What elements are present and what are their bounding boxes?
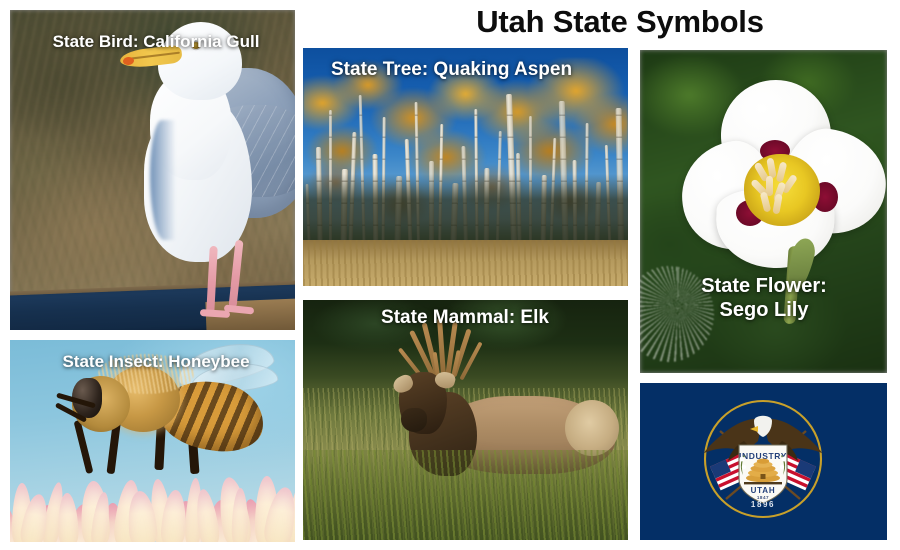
caption-state-flower: State Flower: Sego Lily [654,274,874,323]
poster-canvas: Utah State Symbols State Bird: Californi… [0,0,900,550]
gull-neck-shadow [150,120,176,240]
seal-shield: INDUSTRY UTAH 1847 [739,445,787,503]
caption-flower-line1: State Flower: [654,274,874,298]
panel-state-flower[interactable]: State Flower: Sego Lily [640,50,887,373]
caption-state-tree: State Tree: Quaking Aspen [331,58,611,81]
utah-state-seal: INDUSTRY UTAH 1847 [640,383,887,540]
page-title: Utah State Symbols [400,4,840,40]
sego-lily-image [640,50,887,373]
flower-petal [57,493,79,542]
elk-rump-patch [565,400,619,456]
foreground-grass [303,450,628,540]
elk-muzzle [401,408,427,432]
caption-state-insect: State Insect: Honeybee [28,352,284,373]
dry-grass [303,240,628,286]
panel-state-mammal[interactable]: State Mammal: Elk [303,300,628,540]
panel-state-tree[interactable]: State Tree: Quaking Aspen [303,48,628,286]
panel-state-bird[interactable]: State Bird: California Gull [10,10,295,330]
dark-understory [303,174,628,246]
seal-statehood-year: 1896 [751,500,775,509]
california-gull-image [10,10,295,330]
flower-cluster [10,462,295,542]
panel-state-flag[interactable]: INDUSTRY UTAH 1847 [640,383,887,540]
caption-state-bird: State Bird: California Gull [28,32,284,53]
panel-state-insect[interactable]: State Insect: Honeybee [10,340,295,542]
quaking-aspen-image [303,48,628,286]
caption-state-mammal: State Mammal: Elk [325,306,605,329]
bull-elk-image [303,300,628,540]
seal-state-name: UTAH [751,486,776,495]
caption-flower-line2: Sego Lily [654,298,874,322]
